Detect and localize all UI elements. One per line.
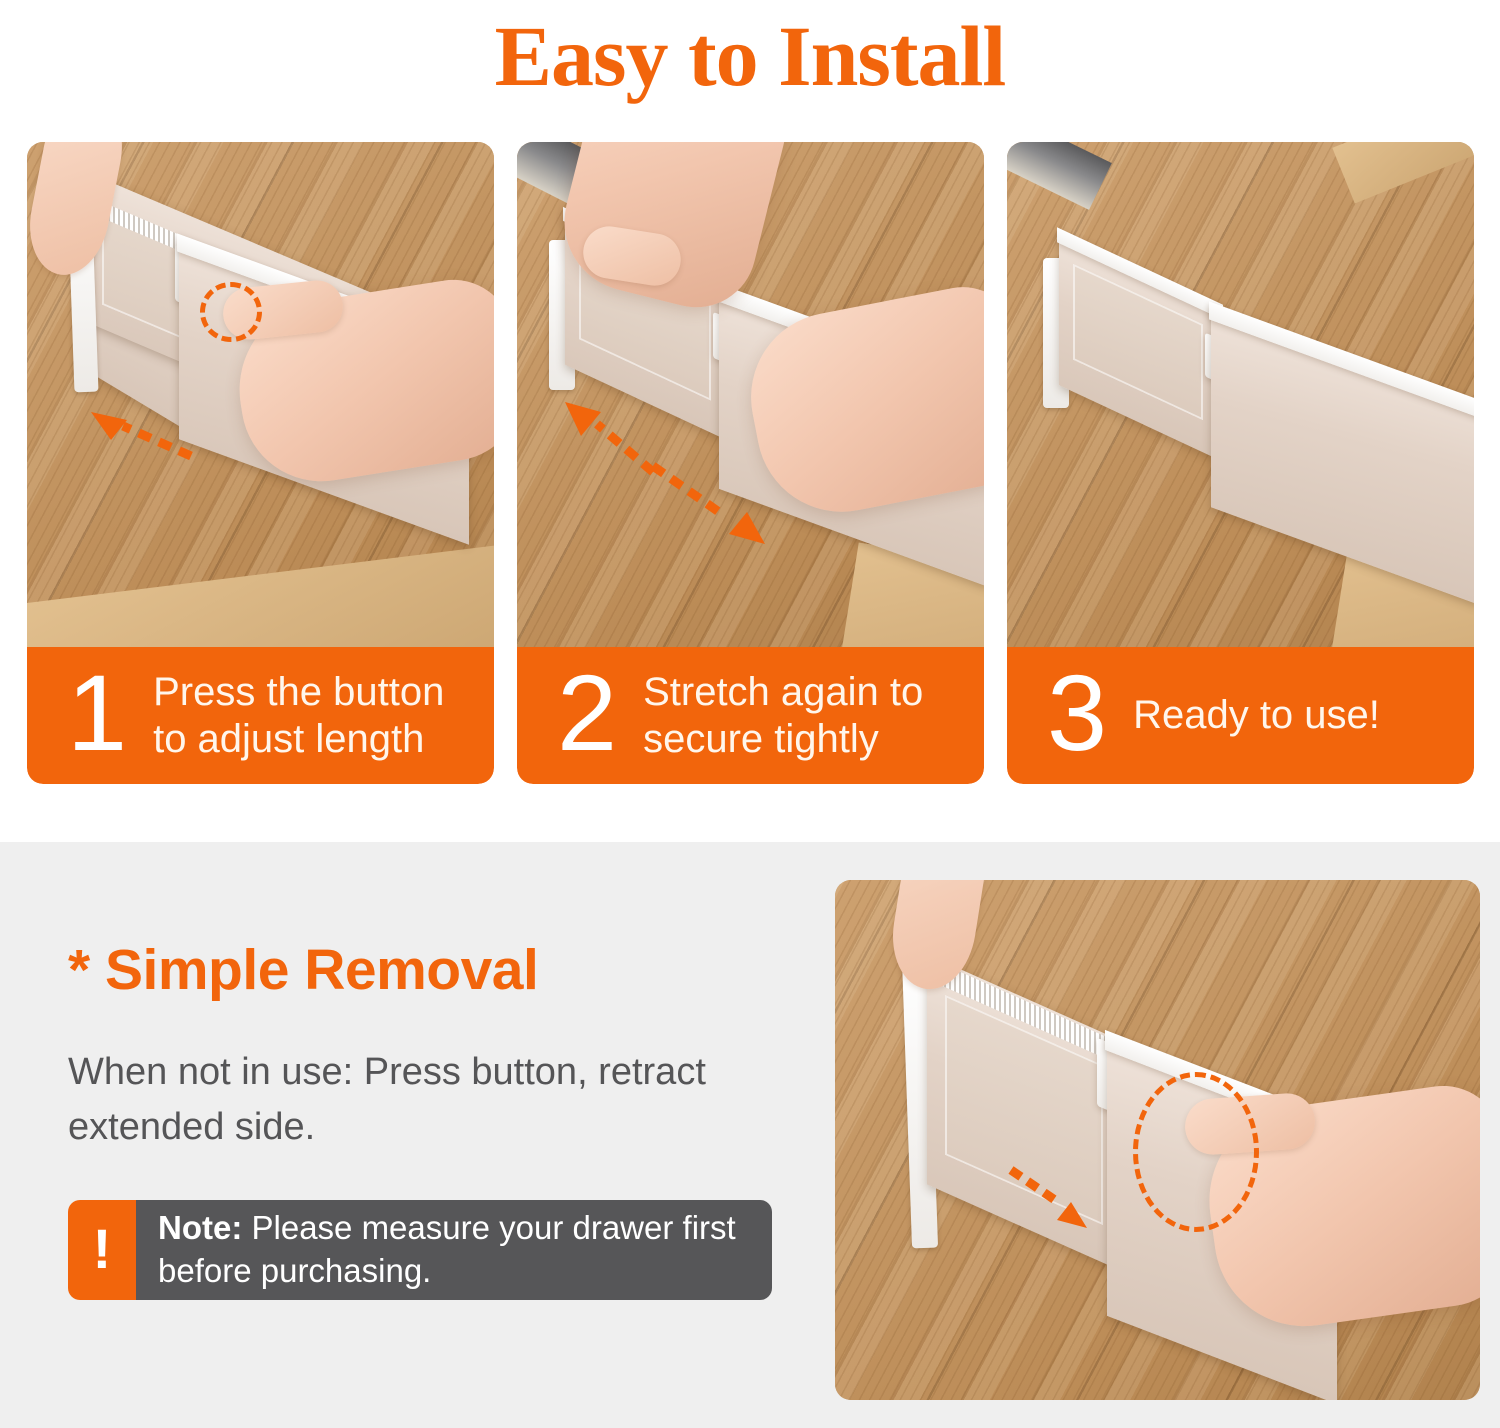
removal-body: When not in use: Press button, retract e… xyxy=(68,1045,788,1155)
header: Easy to Install xyxy=(0,0,1500,118)
button-highlight-circle xyxy=(200,282,262,342)
step-2-text: Stretch again to secure tightly xyxy=(643,669,923,762)
step-3-text-line-1: Ready to use! xyxy=(1133,692,1380,738)
button-highlight-circle xyxy=(1133,1072,1259,1232)
dashed-arrow-left xyxy=(83,410,203,470)
step-card-1: 1 Press the button to adjust length xyxy=(27,142,494,784)
step-1-text-line-2: to adjust length xyxy=(153,716,444,762)
removal-body-line-1: When not in use: Press button, retract xyxy=(68,1051,706,1093)
step-2-number: 2 xyxy=(557,659,617,767)
step-3-text: Ready to use! xyxy=(1133,692,1380,738)
note-text: Note: Please measure your drawer first b… xyxy=(158,1207,756,1293)
exclamation-icon: ! xyxy=(68,1200,136,1300)
removal-heading: * Simple Removal xyxy=(68,942,798,999)
removal-body-line-2: extended side. xyxy=(68,1106,315,1148)
dashed-arrow-down-right xyxy=(647,460,777,550)
simple-removal-section: * Simple Removal When not in use: Press … xyxy=(0,842,1500,1428)
step-1-text: Press the button to adjust length xyxy=(153,669,444,762)
removal-text-block: * Simple Removal When not in use: Press … xyxy=(68,942,798,1155)
step-1-photo xyxy=(27,142,494,647)
note-message: Please measure your drawer first before … xyxy=(158,1209,736,1289)
step-card-2: 2 Stretch again to secure tightly xyxy=(517,142,984,784)
step-1-number: 1 xyxy=(67,659,127,767)
step-3-photo xyxy=(1007,142,1474,647)
exclamation-glyph: ! xyxy=(93,1221,112,1277)
page-title: Easy to Install xyxy=(495,13,1006,99)
step-2-text-line-2: secure tightly xyxy=(643,716,923,762)
step-3-caption: 3 Ready to use! xyxy=(1007,647,1474,784)
note-label: Note: xyxy=(158,1209,242,1246)
step-2-photo xyxy=(517,142,984,647)
step-3-number: 3 xyxy=(1047,659,1107,767)
dashed-arrow-right xyxy=(1007,1166,1097,1236)
step-2-caption: 2 Stretch again to secure tightly xyxy=(517,647,984,784)
step-1-text-line-1: Press the button xyxy=(153,669,444,715)
step-1-caption: 1 Press the button to adjust length xyxy=(27,647,494,784)
step-card-3: 3 Ready to use! xyxy=(1007,142,1474,784)
note-banner: ! Note: Please measure your drawer first… xyxy=(68,1200,772,1300)
install-steps: 1 Press the button to adjust length xyxy=(0,142,1500,784)
step-2-text-line-1: Stretch again to xyxy=(643,669,923,715)
note-body: Note: Please measure your drawer first b… xyxy=(136,1200,772,1300)
removal-photo xyxy=(835,880,1480,1400)
